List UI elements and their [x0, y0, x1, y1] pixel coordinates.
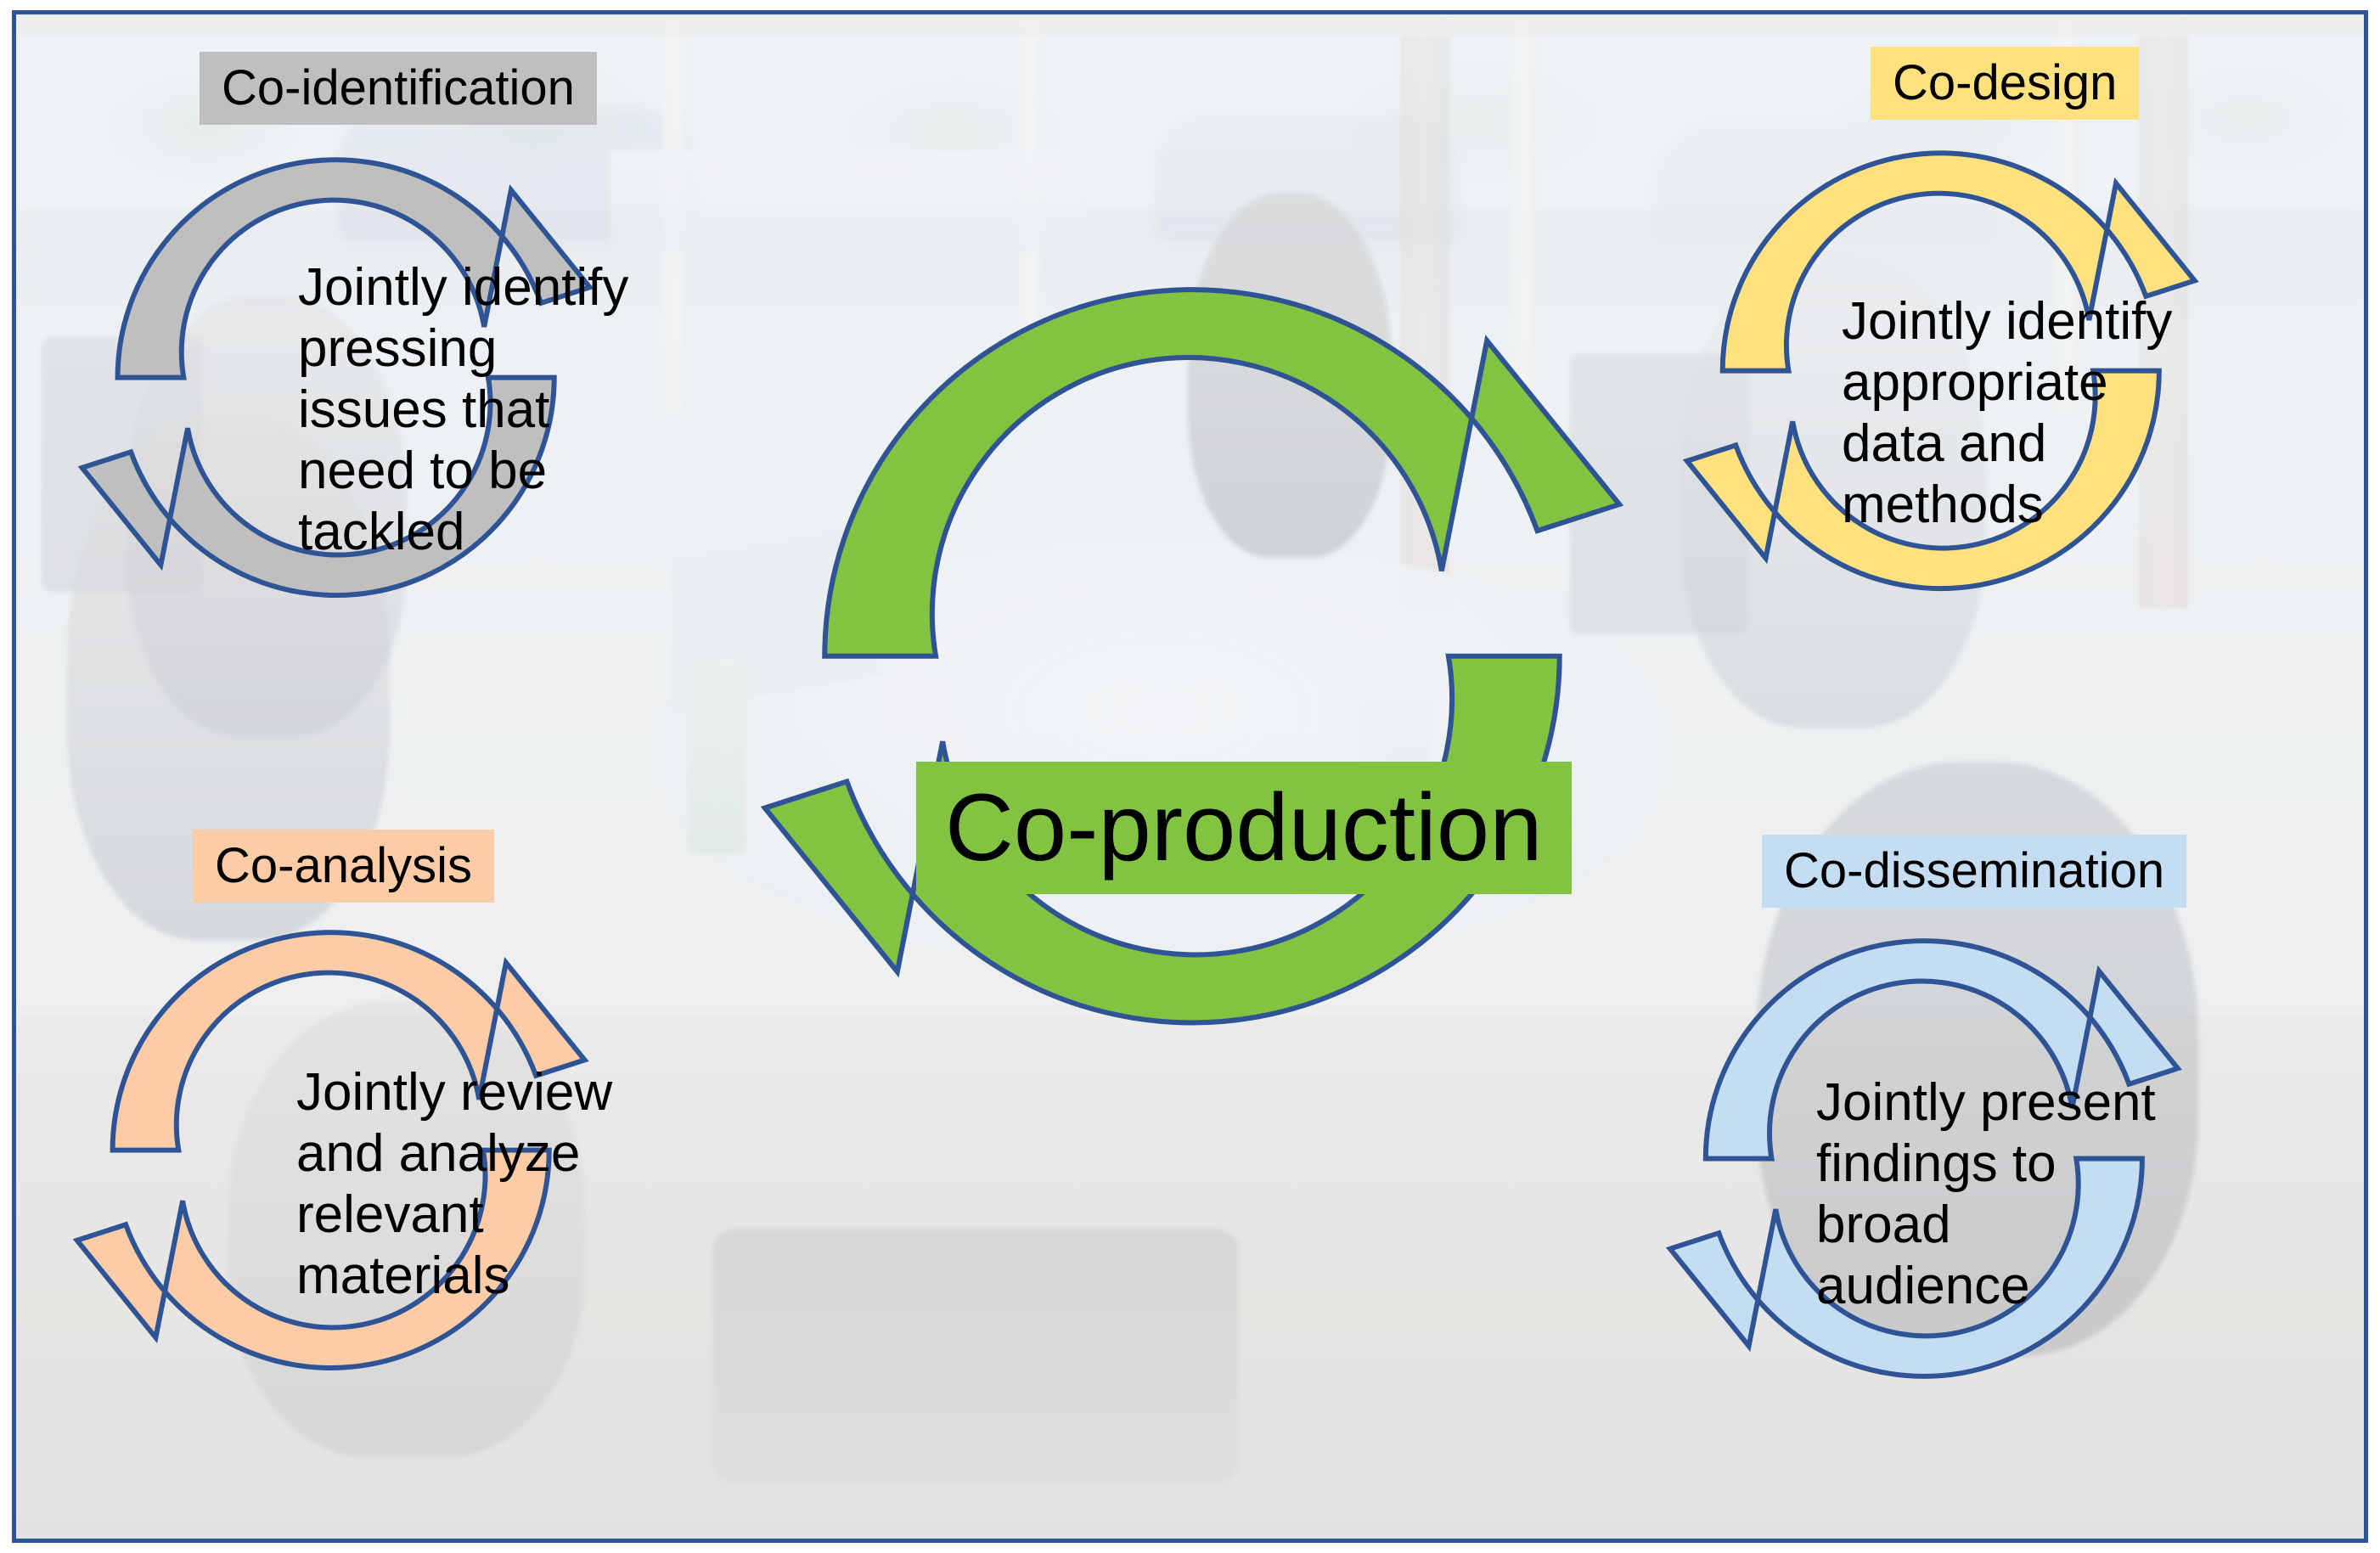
coproduction-figure: Co-identification Co-design Co-analysis … — [0, 0, 2380, 1553]
diagram-overlay: Co-identification Co-design Co-analysis … — [16, 14, 2364, 1539]
label-co-dissemination: Co-dissemination — [1762, 835, 2186, 908]
label-co-production: Co-production — [916, 762, 1572, 894]
text-co-identification: Jointly identify pressing issues that ne… — [298, 257, 638, 563]
text-co-analysis: Jointly review and analyze relevant mate… — [296, 1062, 636, 1307]
figure-frame: Co-identification Co-design Co-analysis … — [12, 10, 2368, 1543]
text-co-design: Jointly identify appropriate data and me… — [1842, 291, 2198, 536]
label-co-identification: Co-identification — [200, 52, 597, 125]
coproduction-cycle-arrow — [765, 290, 1619, 1022]
text-co-dissemination: Jointly present findings to broad audien… — [1816, 1072, 2156, 1317]
label-co-analysis: Co-analysis — [193, 830, 494, 903]
label-co-design: Co-design — [1871, 47, 2139, 120]
